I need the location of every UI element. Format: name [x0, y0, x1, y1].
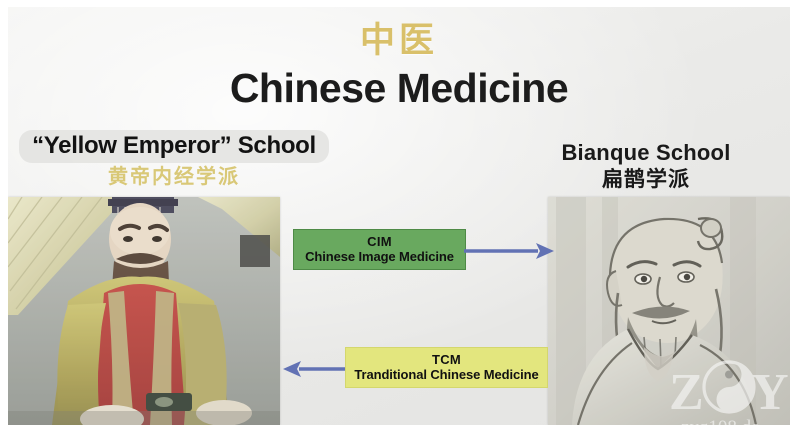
cim-box: CIM Chinese Image Medicine: [293, 229, 466, 270]
yellow-emperor-statue-photo: [8, 197, 280, 425]
cim-full-name: Chinese Image Medicine: [300, 249, 459, 264]
cim-flow-row: CIM Chinese Image Medicine: [293, 229, 553, 275]
tcm-box: TCM Tranditional Chinese Medicine: [345, 347, 548, 388]
bianque-portrait-photo: [548, 197, 790, 425]
slide-title-block: 中医 Chinese Medicine: [8, 23, 790, 111]
left-school-name-highlight: “Yellow Emperor” School: [19, 130, 329, 163]
right-school-name-english: Bianque School: [516, 140, 776, 166]
slide-canvas: 中医 Chinese Medicine: [8, 7, 790, 425]
right-school-name-chinese: 扁鹊学派: [516, 167, 776, 192]
tcm-abbreviation: TCM: [352, 352, 541, 367]
tcm-full-name: Tranditional Chinese Medicine: [352, 367, 541, 382]
cim-arrow-right-icon: [464, 241, 554, 261]
left-school-name-english: “Yellow Emperor” School: [32, 132, 316, 159]
tcm-arrow-left-icon: [283, 359, 353, 379]
left-school-name-chinese: 黄帝内经学派: [14, 165, 334, 189]
bottom-letterbox-band: [0, 425, 800, 447]
title-english: Chinese Medicine: [8, 65, 790, 111]
tcm-flow-row: TCM Tranditional Chinese Medicine: [283, 347, 548, 393]
title-chinese: 中医: [8, 23, 790, 59]
cim-abbreviation: CIM: [300, 234, 459, 249]
left-school-heading: “Yellow Emperor” School 黄帝内经学派: [14, 130, 334, 189]
slide-letterbox-frame: 中医 Chinese Medicine: [0, 0, 800, 447]
right-school-heading: Bianque School 扁鹊学派: [516, 140, 776, 192]
